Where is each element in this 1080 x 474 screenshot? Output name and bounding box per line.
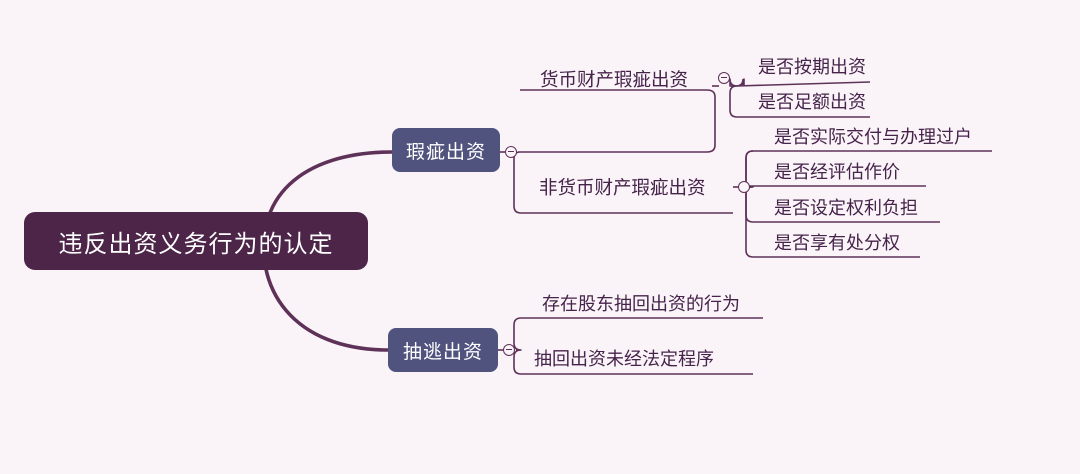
mindmap-canvas: 违反出资义务行为的认定 瑕疵出资 抽逃出资 货币财产瑕疵出资 非货币财产瑕疵出资…: [0, 0, 1080, 474]
connector-branch1-toggle[interactable]: [505, 146, 517, 158]
group-node-monetary-defect[interactable]: 货币财产瑕疵出资: [534, 64, 714, 94]
branch-node-defective-contribution[interactable]: 瑕疵出资: [392, 128, 500, 172]
leaf-node-full-amount-contribution[interactable]: 是否足额出资: [752, 87, 922, 115]
connector-branch2-toggle[interactable]: [503, 344, 515, 356]
connector-group2-toggle[interactable]: [738, 181, 750, 193]
leaf-node-label: 是否享有处分权: [774, 229, 900, 255]
connector-group1-toggle[interactable]: [718, 72, 730, 84]
branch-node-withdrawal-contribution[interactable]: 抽逃出资: [388, 328, 498, 372]
leaf-node-label: 存在股东抽回出资的行为: [542, 290, 740, 316]
root-node[interactable]: 违反出资义务行为的认定: [24, 212, 368, 270]
minus-icon: [506, 349, 512, 350]
leaf-node-withdrawal-without-legal-procedure[interactable]: 抽回出资未经法定程序: [528, 344, 758, 372]
leaf-node-label: 是否按期出资: [758, 53, 866, 79]
leaf-node-disposal-right[interactable]: 是否享有处分权: [768, 228, 928, 256]
leaf-node-label: 是否实际交付与办理过户: [774, 123, 972, 149]
group-node-nonmonetary-defect[interactable]: 非货币财产瑕疵出资: [533, 172, 733, 202]
branch-node-label: 瑕疵出资: [406, 137, 486, 164]
branch-node-label: 抽逃出资: [403, 337, 483, 364]
minus-icon: [508, 151, 514, 152]
leaf-node-label: 是否足额出资: [758, 88, 866, 114]
leaf-node-appraisal-valuation[interactable]: 是否经评估作价: [768, 157, 943, 185]
leaf-node-label: 抽回出资未经法定程序: [534, 345, 714, 371]
leaf-node-on-time-contribution[interactable]: 是否按期出资: [752, 52, 922, 80]
leaf-node-label: 是否经评估作价: [774, 158, 900, 184]
edge-group1-top-leaf: [731, 79, 743, 86]
leaf-node-rights-encumbrance[interactable]: 是否设定权利负担: [768, 193, 943, 221]
leaf-node-shareholder-withdrawal-act[interactable]: 存在股东抽回出资的行为: [536, 289, 766, 317]
group-node-label: 货币财产瑕疵出资: [540, 66, 688, 92]
minus-icon: [721, 77, 727, 78]
leaf-node-actual-delivery-transfer[interactable]: 是否实际交付与办理过户: [768, 122, 998, 150]
group-node-label: 非货币财产瑕疵出资: [539, 174, 706, 200]
leaf-node-label: 是否设定权利负担: [774, 194, 918, 220]
root-node-label: 违反出资义务行为的认定: [59, 224, 334, 259]
